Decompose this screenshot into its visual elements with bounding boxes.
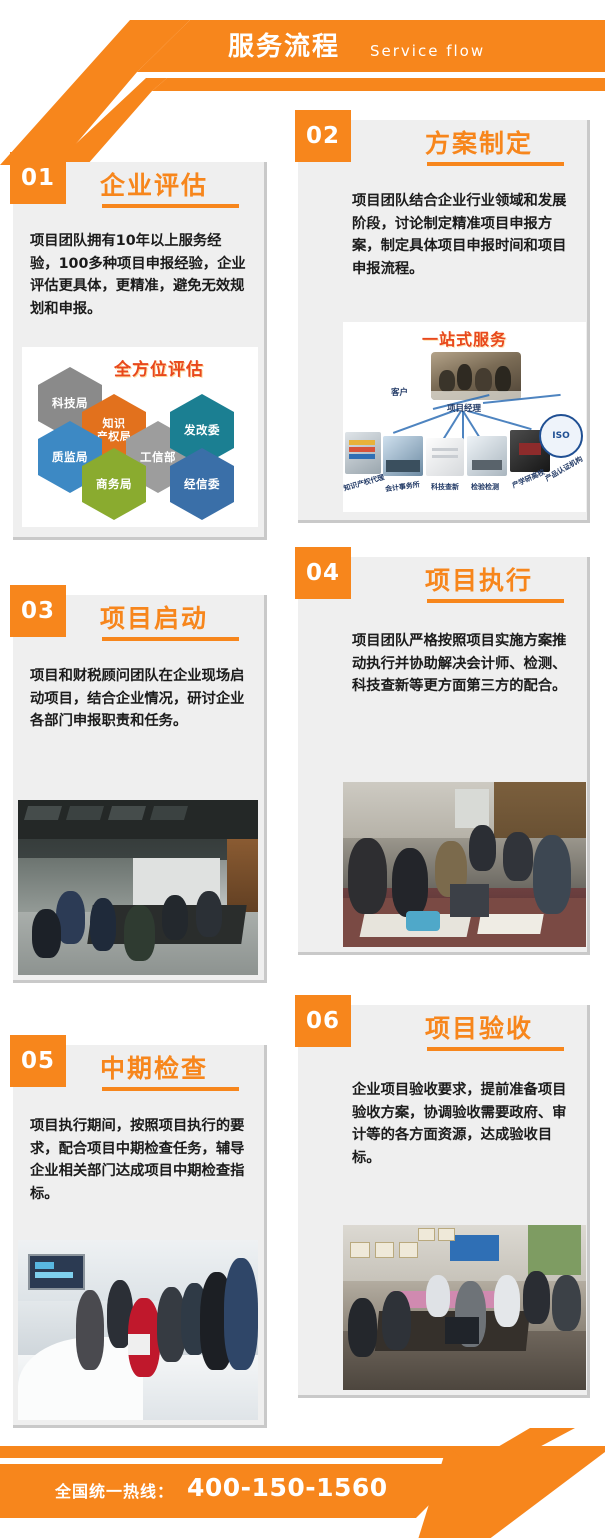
step-title-01: 企业评估 [100, 166, 208, 202]
title-underline [427, 1047, 564, 1051]
step-card-02[interactable]: 02 方案制定 项目团队结合企业行业领域和发展阶段，讨论制定精准项目申报方案，制… [295, 110, 595, 525]
flow-diagram: 一站式服务 客户 项目经理 [343, 322, 586, 512]
step-title-06: 项目验收 [425, 1009, 533, 1045]
hex-diagram-title: 全方位评估 [114, 355, 204, 380]
page-footer: 全国统一热线： 400-150-1560 [0, 1428, 605, 1538]
step-number-badge-06: 06 [295, 995, 351, 1047]
step-card-03[interactable]: 03 项目启动 项目和财税顾问团队在企业现场启动项目，结合企业情况，研讨企业各部… [10, 585, 270, 985]
flow-hub-photo [431, 352, 521, 400]
flow-diagram-title: 一站式服务 [343, 326, 586, 350]
step-body-03: 项目和财税顾问团队在企业现场启动项目，结合企业情况，研讨企业各部门申报职责和任务… [30, 665, 252, 733]
step-number-badge-03: 03 [10, 585, 66, 637]
flow-label-pm: 项目经理 [447, 402, 481, 414]
step-body-02: 项目团队结合企业行业领域和发展阶段，讨论制定精准项目申报方案，制定具体项目申报时… [352, 190, 578, 280]
hotline-label: 全国统一热线： [55, 1478, 174, 1502]
title-underline [427, 599, 564, 603]
flow-caption-search: 科技查新 [431, 482, 459, 492]
step-number-badge-01: 01 [10, 152, 66, 204]
step-card-01[interactable]: 01 企业评估 项目团队拥有10年以上服务经验，100多种项目申报经验，企业评估… [10, 152, 270, 542]
flow-caption-accounting: 会计事务所 [384, 480, 420, 495]
hex-diagram: 全方位评估 科技局 知识产权局 质监局 工信部 商务局 发改委 经信委 [22, 347, 258, 527]
step-photo-03 [18, 800, 258, 975]
flow-label-customer: 客户 [391, 386, 408, 398]
step-photo-05 [18, 1240, 258, 1420]
page-title: 服务流程 [228, 28, 340, 66]
step-body-06: 企业项目验收要求，提前准备项目验收方案，协调验收需要政府、审计等的各方面资源，达… [352, 1079, 580, 1169]
step-number-badge-05: 05 [10, 1035, 66, 1087]
infographic-page: 服务流程 Service flow 01 企业评估 项目团队拥有10年以上服务经… [0, 0, 605, 1538]
step-title-02: 方案制定 [425, 124, 533, 160]
flow-thumb-search [426, 438, 464, 476]
step-body-05: 项目执行期间，按照项目执行的要求，配合项目中期检查任务，辅导企业相关部门达成项目… [30, 1115, 252, 1205]
page-subtitle: Service flow [370, 38, 485, 64]
step-title-05: 中期检查 [100, 1049, 208, 1085]
title-underline [102, 637, 239, 641]
flow-caption-testing: 检验检测 [471, 482, 499, 492]
step-number-badge-02: 02 [295, 110, 351, 162]
step-title-03: 项目启动 [100, 599, 208, 635]
title-underline [102, 1087, 239, 1091]
title-underline [102, 204, 239, 208]
step-card-06[interactable]: 06 项目验收 企业项目验收要求，提前准备项目验收方案，协调验收需要政府、审计等… [295, 995, 595, 1400]
flow-thumb-testing [467, 436, 507, 476]
flow-seal-certification: ISO [539, 414, 583, 458]
step-photo-06 [343, 1225, 586, 1390]
step-photo-04 [343, 782, 586, 947]
step-card-05[interactable]: 05 中期检查 项目执行期间，按照项目执行的要求，配合项目中期检查任务，辅导企业… [10, 1035, 270, 1430]
title-underline [427, 162, 564, 166]
step-number-badge-04: 04 [295, 547, 351, 599]
step-title-04: 项目执行 [425, 561, 533, 597]
flow-thumb-accounting [383, 436, 423, 476]
flow-thumb-ip [345, 432, 381, 474]
page-header: 服务流程 Service flow [0, 0, 605, 110]
step-body-04: 项目团队严格按照项目实施方案推动执行并协助解决会计师、检测、科技查新等更方面第三… [352, 630, 580, 698]
step-body-01: 项目团队拥有10年以上服务经验，100多种项目申报经验，企业评估更具体，更精准，… [30, 230, 250, 320]
flow-caption-ip: 知识产权代理 [343, 472, 386, 493]
hotline-number[interactable]: 400-150-1560 [187, 1473, 388, 1502]
step-card-04[interactable]: 04 项目执行 项目团队严格按照项目实施方案推动执行并协助解决会计师、检测、科技… [295, 547, 595, 957]
